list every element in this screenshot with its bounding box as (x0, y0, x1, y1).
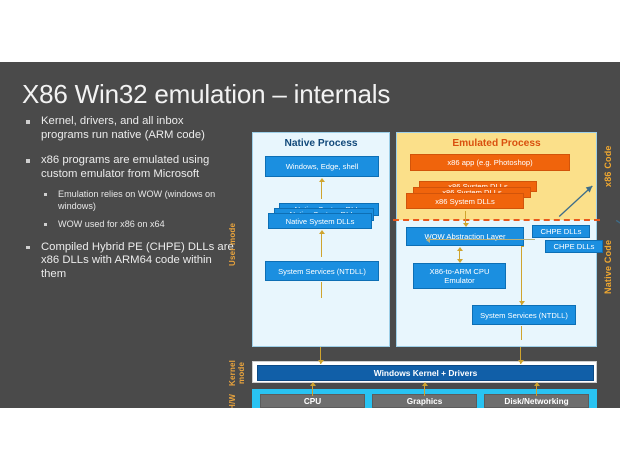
native-app-box[interactable]: Windows, Edge, shell (265, 156, 379, 177)
bullet-marker-icon (26, 120, 30, 124)
arrow-wow-join (521, 246, 524, 247)
arrow-emul-ntdll-down (521, 326, 522, 340)
chpe-dlls-box-2[interactable]: CHPE DLLs (545, 240, 603, 253)
arrow-chpe-to-wow (429, 239, 535, 240)
emulated-ntdll-box[interactable]: System Services (NTDLL) (472, 305, 576, 325)
native-process-title: Native Process (253, 138, 389, 149)
bullet-item-3: Emulation relies on WOW (windows on wind… (40, 189, 234, 212)
bullet-item-5: Compiled Hybrid PE (CHPE) DLLs are x86 D… (24, 241, 234, 282)
bullet-list: Kernel, drivers, and all inbox programs … (24, 115, 234, 293)
arrow-head-up-icon (319, 178, 325, 182)
arrow-wow-to-ntdll (521, 247, 522, 305)
arrow-head-up-icon (319, 230, 325, 234)
bullet-text: WOW used for x86 on x64 (58, 219, 165, 229)
native-ntdll-box[interactable]: System Services (NTDLL) (265, 261, 379, 281)
arrow-head-up-icon (422, 382, 428, 386)
hw-graphics-box[interactable]: Graphics (372, 394, 477, 408)
arrow-head-down-icon (457, 259, 463, 263)
wow-abstraction-layer-box[interactable]: WOW Abstraction Layer (406, 227, 524, 246)
bullet-text: x86 programs are emulated using custom e… (41, 154, 209, 180)
bullet-text: Compiled Hybrid PE (CHPE) DLLs are x86 D… (41, 241, 234, 280)
arrow-head-down-icon (463, 223, 469, 227)
bullet-marker-icon (44, 193, 47, 196)
emulated-process-title: Emulated Process (397, 138, 596, 149)
slide-canvas: X86 Win32 emulation – internals Kernel, … (0, 62, 620, 408)
windows-kernel-box[interactable]: Windows Kernel + Drivers (257, 365, 594, 381)
bullet-item-1: Kernel, drivers, and all inbox programs … (24, 115, 234, 142)
cpu-emulator-box[interactable]: X86-to-ARM CPU Emulator (413, 263, 506, 289)
emulated-process-panel: Emulated Process x86 app (e.g. Photoshop… (396, 132, 597, 347)
bullet-text: Emulation relies on WOW (windows on wind… (58, 189, 215, 210)
page-title: X86 Win32 emulation – internals (22, 79, 390, 110)
bullet-marker-icon (26, 159, 30, 163)
kernel-mode-band: Windows Kernel + Drivers (252, 361, 597, 383)
x86-system-dlls-box-1[interactable]: x86 System DLLs (406, 193, 524, 209)
arrow-head-up-icon (534, 382, 540, 386)
arrow-native-dlls-to-ntdll (321, 232, 322, 257)
label-x86-code: x86 Code (604, 136, 618, 196)
arrow-head-up-icon (457, 247, 463, 251)
hw-disk-networking-box[interactable]: Disk/Networking (484, 394, 589, 408)
chpe-dlls-box-1[interactable]: CHPE DLLs (532, 225, 590, 238)
arrow-head-down-icon (519, 301, 525, 305)
label-native-code: Native Code (604, 232, 618, 302)
bullet-item-2: x86 programs are emulated using custom e… (24, 154, 234, 181)
hw-cpu-box[interactable]: CPU (260, 394, 365, 408)
bullet-marker-icon (44, 223, 47, 226)
arrow-head-down-icon (318, 360, 324, 364)
arrow-native-ntdll-down (321, 282, 322, 298)
bullet-sublist: Emulation relies on WOW (windows on wind… (40, 189, 234, 230)
native-process-panel: Native Process Windows, Edge, shell Nati… (252, 132, 390, 347)
x86-app-box[interactable]: x86 app (e.g. Photoshop) (410, 154, 570, 171)
bullet-marker-icon (26, 246, 30, 250)
arrow-head-down-icon (518, 360, 524, 364)
architecture-diagram: User mode Kernel mode H/W x86 Code Nativ… (228, 114, 620, 399)
label-kernel-mode: Kernel mode (228, 358, 240, 388)
slide-page: X86 Win32 emulation – internals Kernel, … (0, 0, 620, 465)
arrow-native-app-to-dlls (321, 180, 322, 199)
native-system-dlls-box-1[interactable]: Native System DLLs (268, 213, 372, 229)
bullet-text: Kernel, drivers, and all inbox programs … (41, 115, 205, 141)
x86-native-boundary-divider (393, 219, 600, 221)
arrow-head-left-icon (426, 237, 430, 243)
label-hw: H/W (228, 391, 240, 408)
label-user-mode: User mode (228, 209, 240, 279)
arrow-head-up-icon (310, 382, 316, 386)
bullet-item-4: WOW used for x86 on x64 (40, 219, 234, 230)
